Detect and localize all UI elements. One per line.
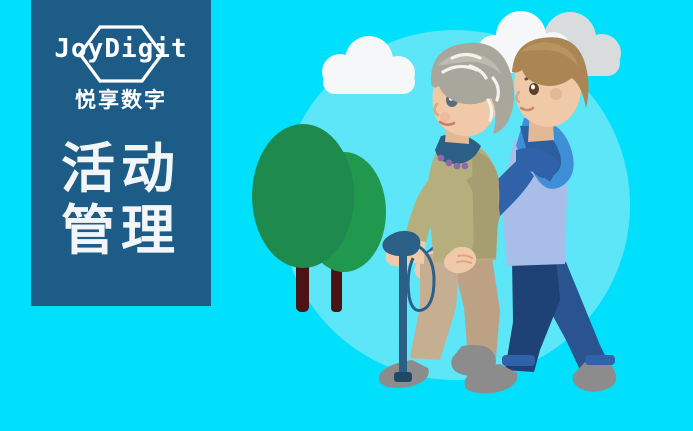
brand-logo: JoyDigit	[46, 22, 196, 84]
page-title-line-2: 管理	[61, 200, 181, 262]
poster-canvas: JoyDigit 悦享数字 活动 管理	[0, 0, 693, 431]
page-title-line-1: 活动	[61, 138, 181, 200]
title-panel: JoyDigit 悦享数字 活动 管理	[31, 0, 211, 306]
brand-subtitle: 悦享数字	[75, 88, 167, 114]
page-title: 活动 管理	[61, 138, 181, 262]
brand-wordmark: JoyDigit	[46, 34, 196, 64]
